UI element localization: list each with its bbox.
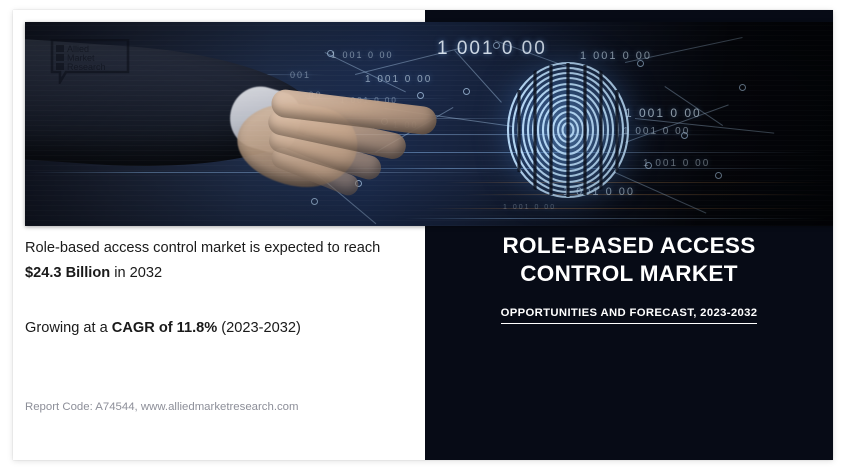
- statement-part-1: Role-based access control market is expe…: [25, 240, 380, 256]
- cagr-part-1: Growing at a: [25, 320, 112, 336]
- left-summary-panel: Role-based access control market is expe…: [25, 236, 425, 341]
- market-statement: Role-based access control market is expe…: [25, 236, 400, 286]
- hero-image: 1 001 0 00 1 001 0 00 1 001 0 00 1 001 0…: [25, 22, 833, 226]
- page-title: ROLE-BASED ACCESS CONTROL MARKET: [464, 232, 794, 288]
- report-code-text: Report Code: A74544, www.alliedmarketres…: [25, 401, 299, 413]
- statement-part-2: in 2032: [110, 265, 162, 281]
- cagr-part-2: (2023-2032): [217, 320, 301, 336]
- report-card: ROLE-BASED ACCESS CONTROL MARKET OPPORTU…: [13, 10, 833, 460]
- title-block: ROLE-BASED ACCESS CONTROL MARKET OPPORTU…: [425, 232, 833, 324]
- cagr-statement: Growing at a CAGR of 11.8% (2023-2032): [25, 316, 425, 341]
- statement-value: $24.3 Billion: [25, 265, 110, 281]
- report-subtitle: OPPORTUNITIES AND FORECAST, 2023-2032: [501, 307, 758, 324]
- logo-line-3: Research: [67, 62, 106, 72]
- allied-market-research-logo: Allied Market Research: [50, 39, 130, 84]
- cagr-value: CAGR of 11.8%: [112, 320, 217, 336]
